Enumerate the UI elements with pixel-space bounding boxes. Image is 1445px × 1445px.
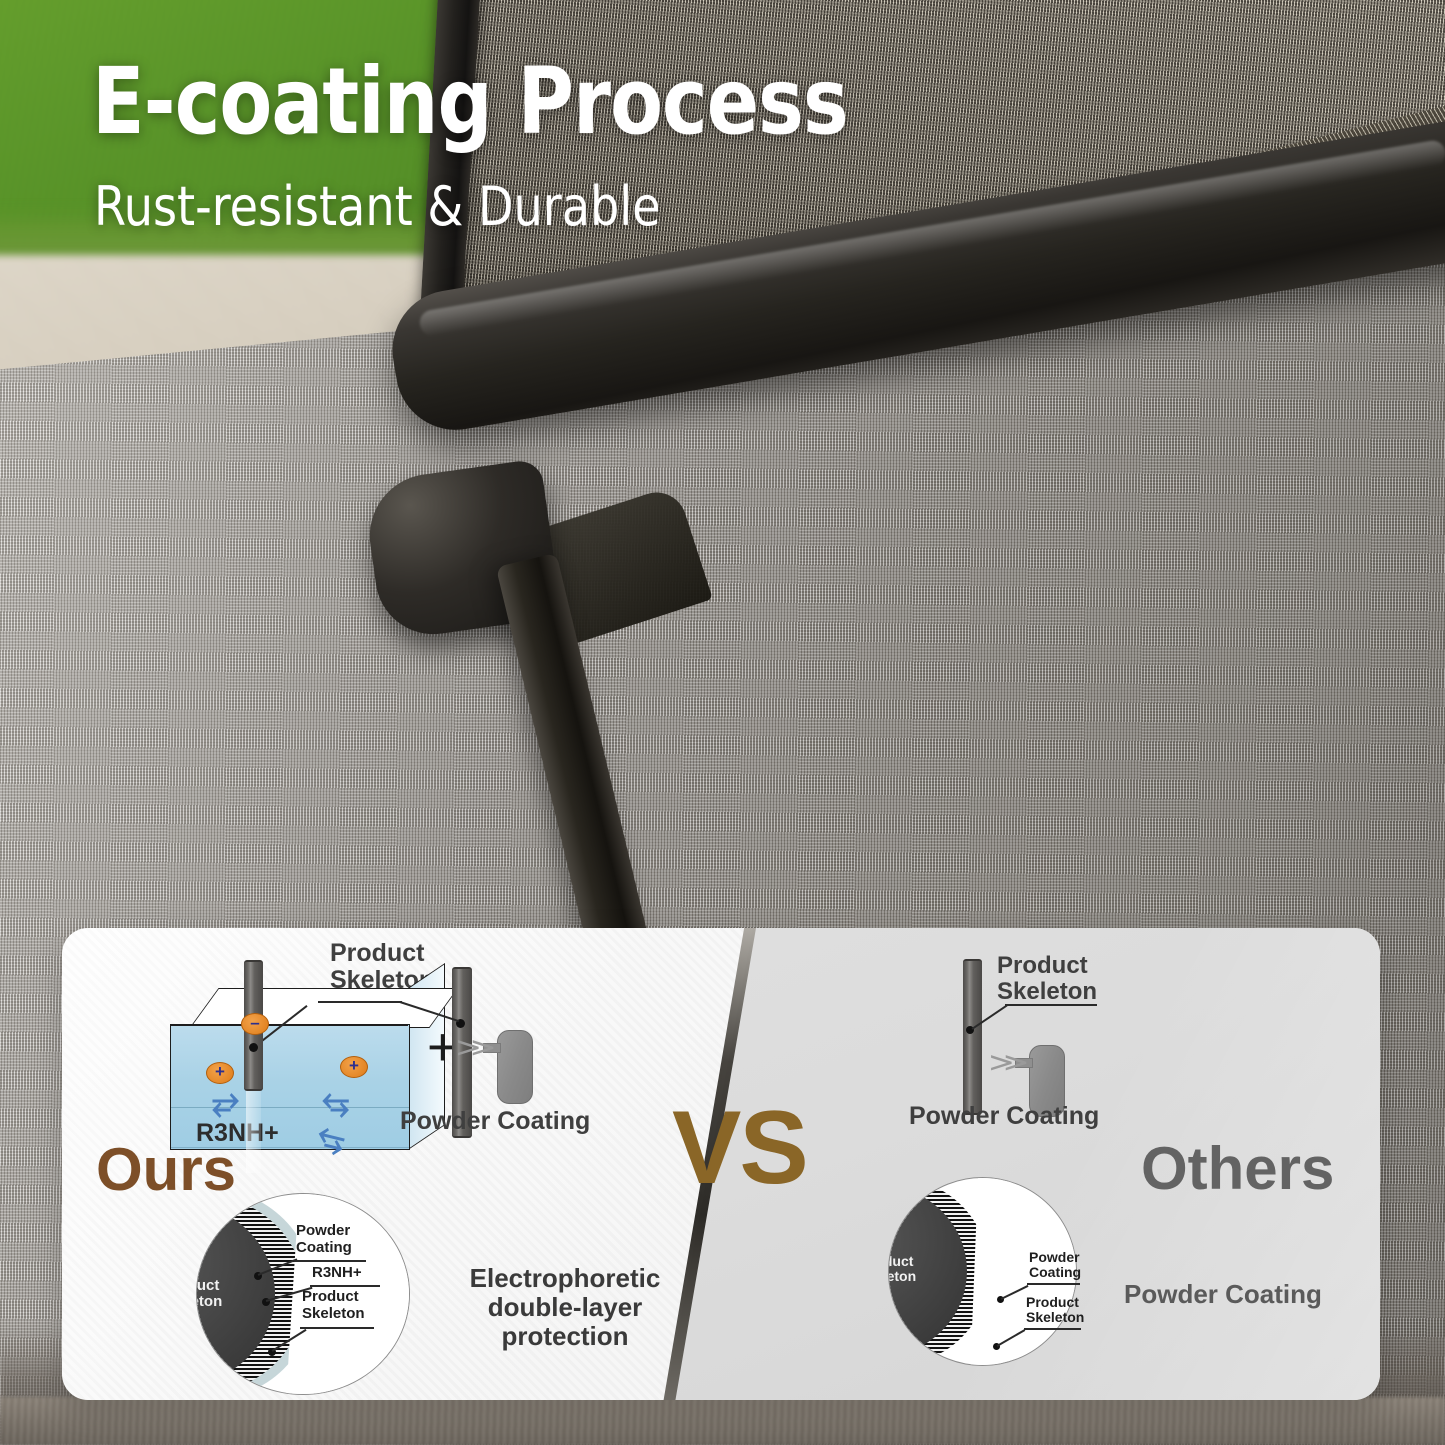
positive-ion-icon: +	[206, 1062, 234, 1084]
ours-core-label: Product Skeleton	[196, 1278, 289, 1310]
others-title: Others	[1141, 1139, 1334, 1199]
liquid-surface-line	[170, 1024, 408, 1026]
cathode-leader-underline	[318, 1001, 384, 1003]
flow-arrow-icon: ⥂	[322, 1084, 349, 1118]
others-core-label: Product Skeleton	[888, 1254, 977, 1284]
others-callout-product-skeleton: Product Skeleton	[1026, 1295, 1084, 1326]
others-callout-0-underline	[1027, 1283, 1080, 1285]
page-title: E-coating Process	[92, 56, 848, 148]
ours-callout-2-underline	[300, 1327, 374, 1329]
ours-callout-product-skeleton: Product Skeleton	[302, 1289, 365, 1322]
others-callout-powder-coating: Powder Coating	[1029, 1250, 1081, 1281]
others-caption: Powder Coating	[1124, 1280, 1322, 1309]
ours-callout-0-underline	[294, 1260, 366, 1262]
ours-powder-coating-label: Powder Coating	[400, 1108, 590, 1135]
ours-callout-epd-layer: R3NH+	[312, 1265, 362, 1282]
ours-callout-powder-coating: Powder Coating	[296, 1223, 352, 1256]
flow-arrow-icon: ⥂	[212, 1084, 239, 1118]
others-product-rod	[963, 959, 982, 1115]
others-rod-leader-underline	[1005, 1004, 1097, 1006]
vs-label: VS	[672, 1096, 807, 1200]
others-powder-coating-label: Powder Coating	[909, 1103, 1099, 1130]
positive-ion-icon: +	[340, 1056, 368, 1078]
ours-caption: Electrophoretic double-layer protection	[445, 1264, 685, 1351]
ours-callout-1-underline	[310, 1285, 380, 1287]
spray-mist-icon: ≫	[455, 1034, 496, 1060]
others-callout-1-underline	[1024, 1328, 1081, 1330]
cathode-rod-submerged	[246, 1085, 261, 1173]
ours-powder-leader-underline	[384, 1001, 402, 1003]
negative-ion-icon: –	[241, 1013, 269, 1035]
foreground-ground-strip	[0, 1397, 1445, 1445]
cathode-contact-point	[249, 1043, 258, 1052]
others-product-skeleton-label: Product Skeleton	[997, 953, 1097, 1005]
page-subtitle: Rust-resistant & Durable	[94, 180, 661, 234]
spray-mist-icon: ≫	[988, 1049, 1029, 1075]
product-infographic: E-coating Process Rust-resistant & Durab…	[0, 0, 1445, 1445]
spray-gun-icon	[497, 1030, 533, 1104]
ours-title: Ours	[96, 1140, 236, 1200]
liquid-level-line-1	[171, 1107, 409, 1108]
